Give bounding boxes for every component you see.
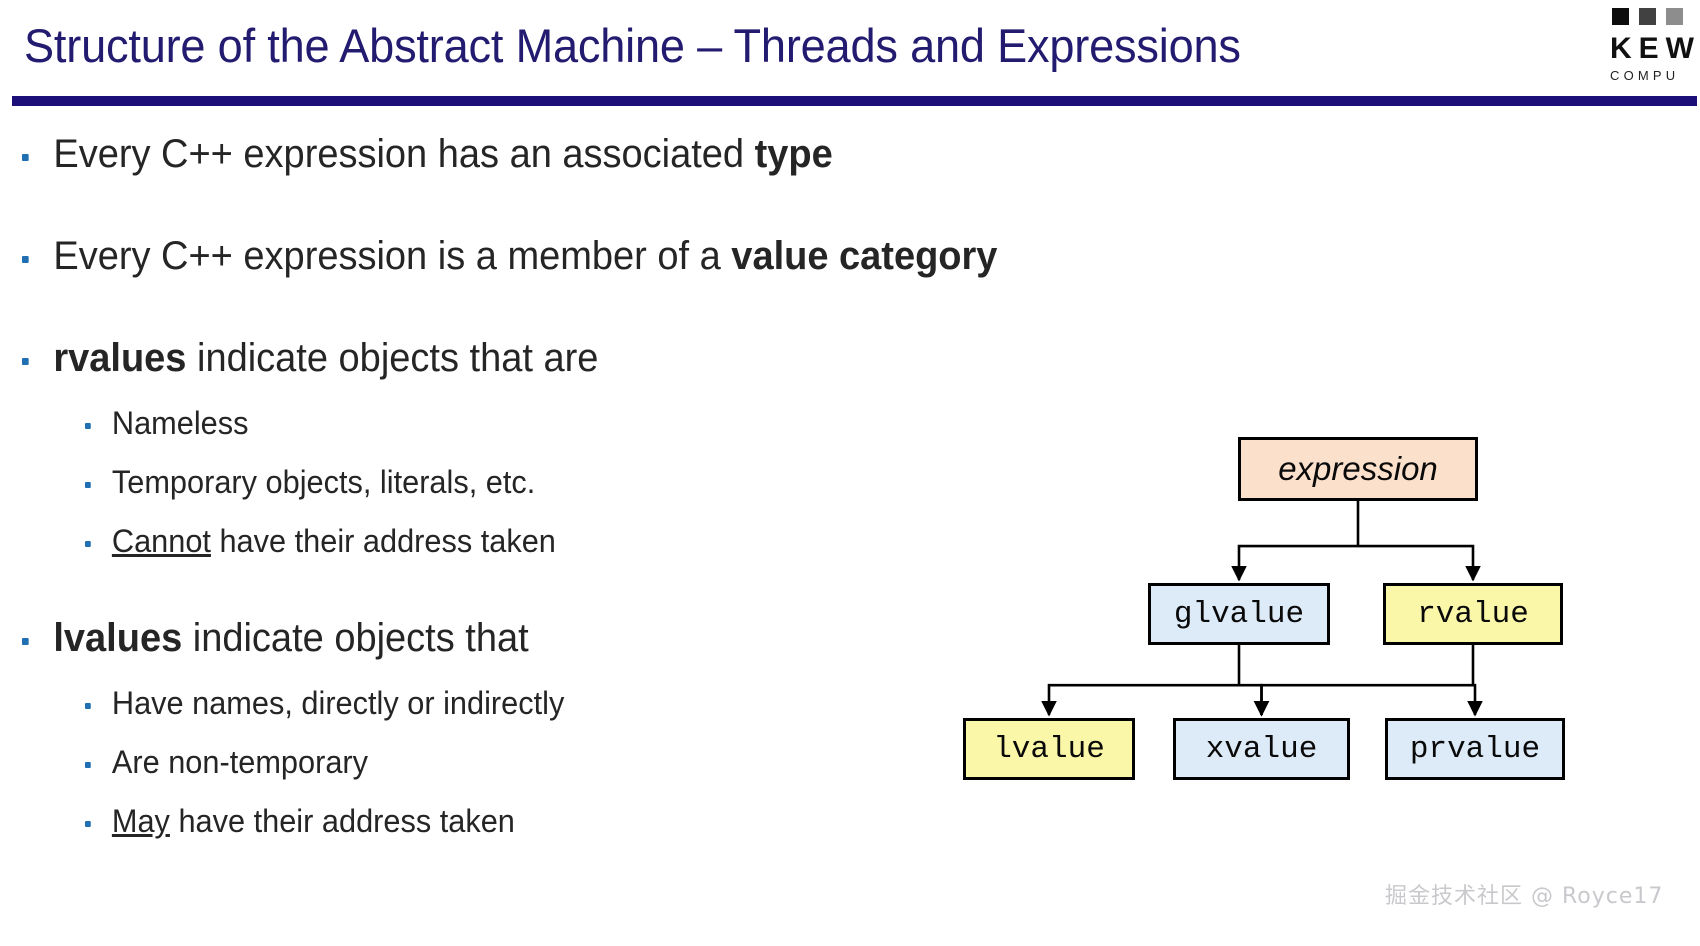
bullet-text: Every C++ expression has an associated t… [53, 132, 832, 177]
bullet-text-run: indicate objects that are [186, 336, 598, 380]
bullet-text: Cannot have their address taken [112, 523, 556, 560]
logo-square-3 [1666, 8, 1683, 25]
bullet-item-l2: Have names, directly or indirectly [85, 685, 564, 722]
bullet-text: Nameless [112, 405, 249, 442]
bullet-text: Are non-temporary [112, 744, 368, 781]
bullet-item-l2: May have their address taken [85, 803, 515, 840]
bullet-marker-icon [22, 358, 29, 365]
bullet-item-l1: rvalues indicate objects that are [22, 336, 598, 381]
tree-node-glvalue: glvalue [1148, 583, 1330, 645]
logo-square-1 [1612, 8, 1629, 25]
bullet-marker-icon [85, 482, 91, 488]
logo-squares-icon [1612, 8, 1683, 25]
bullet-marker-icon [85, 703, 91, 709]
bullet-text-run: May [112, 803, 170, 839]
tree-node-label: expression [1278, 450, 1438, 488]
bullet-item-l1: lvalues indicate objects that [22, 616, 529, 661]
tree-edge [1262, 685, 1474, 715]
bullet-item-l1: Every C++ expression has an associated t… [22, 132, 833, 177]
tree-node-prvalue: prvalue [1385, 718, 1565, 780]
watermark: 掘金技术社区 @ Royce17 [1385, 878, 1663, 910]
tree-node-expression: expression [1238, 437, 1478, 501]
kew-computing-logo: KEW COMPU [1580, 6, 1700, 92]
bullet-marker-icon [22, 638, 29, 645]
bullet-text-run: Are non-temporary [112, 744, 368, 780]
bullet-text: lvalues indicate objects that [53, 616, 528, 661]
bullet-item-l2: Temporary objects, literals, etc. [85, 464, 535, 501]
bullet-text-run: indicate objects that [182, 616, 528, 660]
bullet-text-run: type [755, 132, 833, 176]
bullet-marker-icon [85, 541, 91, 547]
title-divider-rule [12, 96, 1697, 106]
bullet-marker-icon [85, 423, 91, 429]
bullet-item-l2: Are non-temporary [85, 744, 368, 781]
tree-edge [1473, 685, 1475, 715]
bullet-text-run: rvalues [53, 336, 186, 380]
tree-edge [1049, 685, 1239, 715]
bullet-text-run: Every C++ expression has an associated [53, 132, 754, 176]
tree-node-label: glvalue [1174, 597, 1304, 632]
tree-node-xvalue: xvalue [1173, 718, 1350, 780]
bullet-marker-icon [85, 762, 91, 768]
bullet-item-l2: Cannot have their address taken [85, 523, 556, 560]
bullet-text: rvalues indicate objects that are [53, 336, 598, 381]
page-title: Structure of the Abstract Machine – Thre… [24, 22, 1445, 69]
value-category-tree-diagram: expressionglvaluervaluelvaluexvalueprval… [950, 390, 1690, 760]
tree-node-lvalue: lvalue [963, 718, 1135, 780]
tree-edge [1358, 546, 1473, 580]
bullet-text-run: Cannot [112, 523, 211, 559]
bullet-text: Have names, directly or indirectly [112, 685, 564, 722]
bullet-marker-icon [22, 154, 29, 161]
bullet-text-run: value category [731, 234, 997, 278]
tree-node-label: prvalue [1410, 732, 1540, 767]
bullet-marker-icon [22, 256, 29, 263]
bullet-text-run: Temporary objects, literals, etc. [112, 464, 535, 500]
bullet-text-run: Have names, directly or indirectly [112, 685, 564, 721]
bullet-text-run: have their address taken [211, 523, 556, 559]
bullet-text: Every C++ expression is a member of a va… [53, 234, 997, 279]
tree-node-rvalue: rvalue [1383, 583, 1563, 645]
logo-subtitle: COMPU [1610, 68, 1679, 83]
bullet-text: May have their address taken [112, 803, 515, 840]
bullet-marker-icon [85, 821, 91, 827]
bullet-item-l2: Nameless [85, 405, 248, 442]
logo-wordmark: KEW [1610, 32, 1700, 66]
bullet-text-run: lvalues [53, 616, 182, 660]
tree-node-label: lvalue [993, 732, 1105, 767]
logo-square-2 [1639, 8, 1656, 25]
bullet-text-run: Every C++ expression is a member of a [53, 234, 731, 278]
bullet-text-run: have their address taken [170, 803, 515, 839]
bullet-text-run: Nameless [112, 405, 249, 441]
tree-node-label: xvalue [1206, 732, 1318, 767]
tree-node-label: rvalue [1417, 597, 1529, 632]
bullet-text: Temporary objects, literals, etc. [112, 464, 535, 501]
tree-edge [1239, 685, 1262, 715]
bullet-item-l1: Every C++ expression is a member of a va… [22, 234, 997, 279]
tree-edge [1239, 546, 1358, 580]
